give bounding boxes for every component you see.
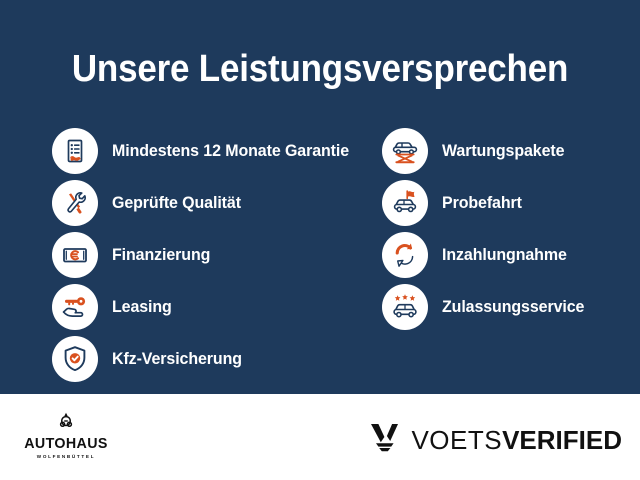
benefits-right-column: Wartungspakete xyxy=(382,128,632,336)
navy-panel: Unsere Leistungsversprechen xyxy=(0,0,640,394)
car-flag-icon xyxy=(382,180,428,226)
benefit-item[interactable]: Leasing xyxy=(52,284,382,330)
page-title: Unsere Leistungsversprechen xyxy=(26,47,615,91)
promo-poster: Unsere Leistungsversprechen xyxy=(0,0,640,480)
autohaus-brand-text: AUTOHAUS xyxy=(17,436,116,452)
benefit-item[interactable]: Mindestens 12 Monate Garantie xyxy=(52,128,382,174)
benefit-label: Leasing xyxy=(112,297,172,317)
hand-key-icon xyxy=(52,284,98,330)
crest-emblem-icon xyxy=(14,412,118,434)
voets-word-bold: VERIFIED xyxy=(502,425,622,455)
footer-bar: AUTOHAUS WOLFENBÜTTEL VOETSVERIFIED xyxy=(0,394,640,480)
benefit-item[interactable]: Inzahlungnahme xyxy=(382,232,632,278)
autohaus-logo[interactable]: AUTOHAUS WOLFENBÜTTEL xyxy=(14,412,118,461)
voets-wordmark: VOETSVERIFIED xyxy=(411,426,622,454)
benefit-label: Probefahrt xyxy=(442,193,522,213)
car-lift-icon xyxy=(382,128,428,174)
autohaus-city-text: WOLFENBÜTTEL xyxy=(14,453,118,461)
voets-verified-logo[interactable]: VOETSVERIFIED xyxy=(369,422,622,457)
benefit-label: Wartungspakete xyxy=(442,141,564,161)
benefit-label: Kfz-Versicherung xyxy=(112,349,242,369)
benefit-label: Inzahlungnahme xyxy=(442,245,567,265)
benefit-label: Geprüfte Qualität xyxy=(112,193,241,213)
document-handshake-icon xyxy=(52,128,98,174)
car-stars-icon xyxy=(382,284,428,330)
benefit-label: Finanzierung xyxy=(112,245,210,265)
banknote-euro-icon xyxy=(52,232,98,278)
benefit-item[interactable]: Kfz-Versicherung xyxy=(52,336,382,382)
exchange-arrows-icon xyxy=(382,232,428,278)
benefit-item[interactable]: Probefahrt xyxy=(382,180,632,226)
benefit-item[interactable]: Zulassungsservice xyxy=(382,284,632,330)
benefit-label: Mindestens 12 Monate Garantie xyxy=(112,141,349,161)
benefit-item[interactable]: Geprüfte Qualität xyxy=(52,180,382,226)
benefit-item[interactable]: Finanzierung xyxy=(52,232,382,278)
benefits-left-column: Mindestens 12 Monate Garantie Geprü xyxy=(52,128,382,388)
screwdriver-wrench-icon xyxy=(52,180,98,226)
benefit-item[interactable]: Wartungspakete xyxy=(382,128,632,174)
benefit-label: Zulassungsservice xyxy=(442,297,584,317)
shield-check-icon xyxy=(52,336,98,382)
voets-v-mark-icon xyxy=(369,422,401,457)
voets-word-light: VOETS xyxy=(411,425,502,455)
